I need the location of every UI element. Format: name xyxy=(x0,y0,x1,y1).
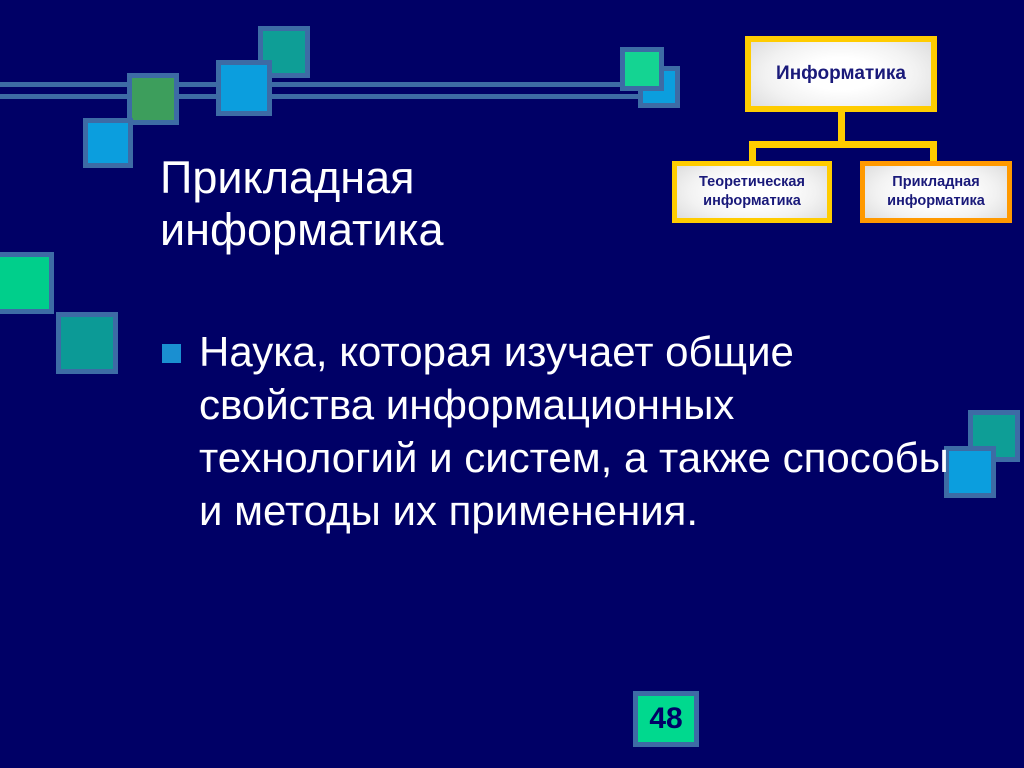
org-node-theoretical-informatics: Теоретическая информатика xyxy=(672,161,832,223)
decorative-square-green-line-end xyxy=(620,47,664,91)
bullet-marker-icon xyxy=(162,344,181,363)
connector-horizontal-bar xyxy=(749,141,937,148)
slide-canvas: Прикладная информатика Наука, которая из… xyxy=(0,0,1024,768)
org-node-applied-informatics: Прикладная информатика xyxy=(860,161,1012,223)
org-chart-diagram: Информатика Теоретическая информатика Пр… xyxy=(668,36,1018,236)
body-bullet-list: Наука, которая изучает общие свойства ин… xyxy=(162,326,952,538)
decorative-rule-lower xyxy=(0,94,660,99)
org-node-informatics: Информатика xyxy=(745,36,937,112)
page-number-badge: 48 xyxy=(633,691,699,747)
decorative-square-green-center xyxy=(127,73,179,125)
connector-root-stem xyxy=(838,112,845,144)
decorative-square-cyan-below xyxy=(83,118,133,168)
decorative-square-cyan-top xyxy=(216,60,272,116)
decorative-square-green-left xyxy=(0,252,54,314)
decorative-rule-upper xyxy=(0,82,660,87)
slide-title: Прикладная информатика xyxy=(160,152,680,256)
decorative-square-teal-left xyxy=(56,312,118,374)
bullet-item-text: Наука, которая изучает общие свойства ин… xyxy=(199,326,952,538)
